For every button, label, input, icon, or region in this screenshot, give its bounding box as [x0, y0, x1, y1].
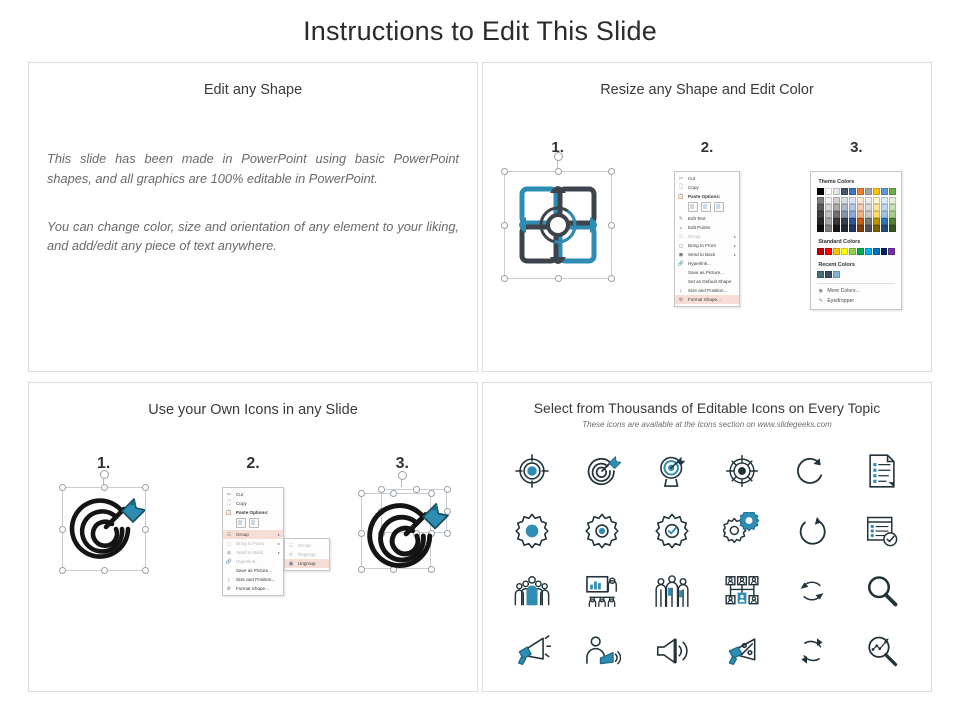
- standard-colors-row[interactable]: [817, 248, 895, 255]
- theme-shade-swatch[interactable]: [873, 211, 880, 218]
- panel-edit-shape-body: This slide has been made in PowerPoint u…: [47, 149, 459, 284]
- theme-shade-swatch[interactable]: [849, 225, 856, 232]
- theme-shade-swatch[interactable]: [889, 204, 896, 211]
- paste-picture-icon[interactable]: [249, 518, 259, 528]
- refresh-arrow-icon[interactable]: [795, 454, 829, 488]
- size-position-icon: ↨: [225, 576, 233, 583]
- document-check-icon[interactable]: [864, 513, 900, 549]
- menu-item-hyperlink[interactable]: 🔗Hyperlink...: [675, 259, 739, 268]
- handle-ne[interactable]: [608, 168, 615, 175]
- resize-figure-row: ✂Cut 🗋Copy 📋Paste Options: ✎Edit Text ▵E…: [483, 171, 931, 310]
- magnifier-icon[interactable]: [864, 573, 900, 609]
- theme-shade-swatch[interactable]: [881, 197, 888, 204]
- eyedropper-icon: ✎: [817, 297, 824, 304]
- theme-shade-swatch[interactable]: [889, 218, 896, 225]
- eyedropper-item[interactable]: ✎Eyedropper: [817, 297, 895, 304]
- target-icon-ungrouped[interactable]: [357, 487, 447, 577]
- rotate-handle[interactable]: [398, 471, 407, 480]
- handle-s[interactable]: [555, 275, 562, 282]
- resize-number-3: 3.: [782, 139, 931, 156]
- group-submenu[interactable]: ☷Group ☸Regroup ▣Ungroup: [284, 538, 330, 571]
- hyperlink-icon: 🔗: [225, 558, 233, 565]
- handle-se[interactable]: [142, 567, 149, 574]
- theme-shade-swatch[interactable]: [841, 204, 848, 211]
- standard-colors-heading: Standard Colors: [818, 239, 895, 245]
- menu-item-copy[interactable]: 🗋Copy: [223, 499, 283, 508]
- gear-outline-icon[interactable]: [583, 512, 621, 550]
- theme-shade-swatch[interactable]: [865, 204, 872, 211]
- theme-color-swatch[interactable]: [857, 188, 864, 195]
- standard-color-swatch[interactable]: [881, 248, 888, 255]
- handle-nw[interactable]: [501, 168, 508, 175]
- shape-context-menu[interactable]: ✂Cut 🗋Copy 📋Paste Options: ✎Edit Text ▵E…: [674, 171, 740, 307]
- resize-number-row: 1. 2. 3.: [483, 139, 931, 156]
- theme-shade-swatch[interactable]: [833, 211, 840, 218]
- theme-color-column[interactable]: [873, 188, 880, 232]
- theme-color-column[interactable]: [857, 188, 864, 232]
- hyperlink-icon: 🔗: [677, 260, 685, 267]
- standard-color-swatch[interactable]: [841, 248, 848, 255]
- handle-se[interactable]: [608, 275, 615, 282]
- panel-resize-shape-title: Resize any Shape and Edit Color: [483, 82, 931, 98]
- handle-w[interactable]: [501, 222, 508, 229]
- resize-figure-3: Theme Colors Standard Colors Recent Colo…: [782, 171, 931, 310]
- submenu-item-group[interactable]: ☷Group: [285, 541, 329, 550]
- theme-shade-swatch[interactable]: [825, 197, 832, 204]
- theme-color-swatch[interactable]: [833, 188, 840, 195]
- handle-s[interactable]: [101, 567, 108, 574]
- rotate-handle[interactable]: [554, 152, 563, 161]
- theme-shade-swatch[interactable]: [817, 225, 824, 232]
- paste-option-buttons[interactable]: [675, 201, 739, 214]
- format-shape-icon: ⚙: [677, 296, 685, 303]
- theme-shade-swatch[interactable]: [873, 204, 880, 211]
- chevron-right-icon: ▸: [278, 532, 280, 537]
- menu-item-save-as-picture[interactable]: Save as Picture...: [675, 268, 739, 277]
- theme-shade-swatch[interactable]: [817, 218, 824, 225]
- bring-front-icon: ◻: [225, 540, 233, 547]
- theme-colors-grid[interactable]: [817, 188, 895, 232]
- standard-color-swatch[interactable]: [825, 248, 832, 255]
- menu-item-format-shape[interactable]: ⚙Format Shape...: [675, 295, 739, 304]
- gear-check-icon[interactable]: [653, 512, 691, 550]
- regroup-icon: ☸: [287, 552, 295, 558]
- handle-w[interactable]: [59, 526, 66, 533]
- paste-option-buttons[interactable]: [223, 517, 283, 530]
- save-picture-icon: [677, 269, 685, 276]
- handle-n[interactable]: [101, 484, 108, 491]
- handle-e[interactable]: [142, 526, 149, 533]
- format-shape-icon: ⚙: [225, 585, 233, 592]
- theme-shade-swatch[interactable]: [841, 197, 848, 204]
- double-gear-icon[interactable]: [723, 512, 761, 550]
- handle-n[interactable]: [555, 168, 562, 175]
- paste-text-icon[interactable]: [714, 202, 724, 212]
- theme-color-picker[interactable]: Theme Colors Standard Colors Recent Colo…: [810, 171, 902, 310]
- menu-item-paste-options[interactable]: 📋Paste Options:: [223, 508, 283, 517]
- theme-color-column[interactable]: [833, 188, 840, 232]
- theme-shade-swatch[interactable]: [889, 225, 896, 232]
- handle-e[interactable]: [608, 222, 615, 229]
- theme-shade-swatch[interactable]: [841, 218, 848, 225]
- person-megaphone-icon[interactable]: [583, 632, 621, 670]
- resize-figure-2: ✂Cut 🗋Copy 📋Paste Options: ✎Edit Text ▵E…: [632, 171, 781, 307]
- recent-colors-row[interactable]: [817, 271, 895, 278]
- resize-figure-1: [483, 171, 632, 279]
- theme-shade-swatch[interactable]: [817, 197, 824, 204]
- chevron-right-icon: ▸: [734, 243, 736, 248]
- crosshair-dark-icon[interactable]: [723, 452, 761, 490]
- chevron-right-icon: ▸: [734, 234, 736, 239]
- theme-shade-swatch[interactable]: [865, 197, 872, 204]
- palette-icon: ◉: [817, 287, 824, 294]
- paste-picture-icon[interactable]: [701, 202, 711, 212]
- standard-color-swatch[interactable]: [857, 248, 864, 255]
- theme-shade-swatch[interactable]: [841, 225, 848, 232]
- panel-icon-library-title: Select from Thousands of Editable Icons …: [483, 400, 931, 416]
- send-back-icon: ◼: [677, 251, 685, 258]
- theme-color-swatch[interactable]: [865, 188, 872, 195]
- ungroup-icon: ▣: [287, 561, 295, 567]
- standard-color-swatch[interactable]: [849, 248, 856, 255]
- speaker-announce-icon[interactable]: [653, 632, 691, 670]
- theme-color-column[interactable]: [825, 188, 832, 232]
- theme-shade-swatch[interactable]: [889, 211, 896, 218]
- menu-item-set-default-shape[interactable]: Set as Default Shape: [675, 277, 739, 286]
- resize-number-2: 2.: [632, 139, 781, 156]
- own-icons-number-row: 1. 2. 3.: [29, 455, 477, 473]
- theme-color-swatch[interactable]: [817, 188, 824, 195]
- handle-sw[interactable]: [501, 275, 508, 282]
- theme-shade-swatch[interactable]: [857, 218, 864, 225]
- theme-color-column[interactable]: [865, 188, 872, 232]
- target-stand-icon[interactable]: [653, 452, 691, 490]
- submenu-item-regroup[interactable]: ☸Regroup: [285, 550, 329, 559]
- theme-shade-swatch[interactable]: [849, 211, 856, 218]
- presentation-training-icon[interactable]: [583, 572, 621, 610]
- bring-front-icon: ◻: [677, 242, 685, 249]
- theme-shade-swatch[interactable]: [857, 225, 864, 232]
- theme-shade-swatch[interactable]: [865, 225, 872, 232]
- copy-icon: 🗋: [225, 500, 233, 507]
- selection-frame: [62, 487, 146, 571]
- menu-item-bring-to-front[interactable]: ◻Bring to Front▸: [223, 539, 283, 548]
- team-leader-icon[interactable]: [513, 572, 551, 610]
- page-title: Instructions to Edit This Slide: [0, 16, 960, 47]
- menu-item-cut[interactable]: ✂Cut: [223, 490, 283, 499]
- rotate-handle[interactable]: [100, 470, 109, 479]
- theme-shade-swatch[interactable]: [857, 204, 864, 211]
- target-dart-graphic: [359, 491, 449, 581]
- theme-shade-swatch[interactable]: [857, 197, 864, 204]
- theme-shade-swatch[interactable]: [833, 218, 840, 225]
- recent-colors-heading: Recent Colors: [818, 262, 895, 268]
- theme-shade-swatch[interactable]: [865, 218, 872, 225]
- team-group-icon[interactable]: [653, 572, 691, 610]
- theme-color-column[interactable]: [817, 188, 824, 232]
- recent-color-swatch[interactable]: [825, 271, 832, 278]
- theme-shade-swatch[interactable]: [865, 211, 872, 218]
- theme-shade-swatch[interactable]: [881, 218, 888, 225]
- group-menu-wrapper: ✂Cut 🗋Copy 📋Paste Options: ☷Group▸ ◻Brin…: [222, 487, 284, 596]
- group-context-menu[interactable]: ✂Cut 🗋Copy 📋Paste Options: ☷Group▸ ◻Brin…: [222, 487, 284, 596]
- theme-shade-swatch[interactable]: [881, 225, 888, 232]
- clipboard-icon: 📋: [225, 509, 233, 516]
- theme-shade-swatch[interactable]: [825, 225, 832, 232]
- icon-library-grid: [497, 441, 917, 681]
- panel-grid: Edit any Shape This slide has been made …: [28, 62, 932, 692]
- menu-item-send-to-back[interactable]: ◼Send to Back▸: [223, 548, 283, 557]
- menu-item-bring-to-front[interactable]: ◻Bring to Front▸: [675, 241, 739, 250]
- panel-edit-shape-title: Edit any Shape: [29, 82, 477, 98]
- menu-item-group[interactable]: ☷Group▸: [223, 530, 283, 539]
- handle-nw[interactable]: [59, 484, 66, 491]
- own-icons-number-2: 2.: [178, 455, 327, 473]
- panel-icon-library: Select from Thousands of Editable Icons …: [482, 382, 932, 692]
- paste-keep-formatting-icon[interactable]: [688, 202, 698, 212]
- menu-item-hyperlink[interactable]: 🔗Hyperlink...: [223, 557, 283, 566]
- theme-shade-swatch[interactable]: [873, 225, 880, 232]
- submenu-item-ungroup[interactable]: ▣Ungroup: [285, 559, 329, 568]
- theme-shade-swatch[interactable]: [817, 211, 824, 218]
- theme-shade-swatch[interactable]: [817, 204, 824, 211]
- standard-color-swatch[interactable]: [888, 248, 895, 255]
- menu-item-paste-options[interactable]: 📋Paste Options:: [675, 192, 739, 201]
- panel-own-icons: Use your Own Icons in any Slide 1. 2. 3.: [28, 382, 478, 692]
- send-back-icon: ◼: [225, 549, 233, 556]
- standard-color-swatch[interactable]: [817, 248, 824, 255]
- scissors-icon: ✂: [677, 175, 685, 182]
- theme-shade-swatch[interactable]: [889, 197, 896, 204]
- edit-text-icon: ✎: [677, 215, 685, 222]
- megaphone-percent-icon[interactable]: [723, 632, 761, 670]
- target-icon-selected[interactable]: [62, 487, 146, 571]
- theme-shade-swatch[interactable]: [825, 211, 832, 218]
- panel-icon-library-subtitle: These icons are available at the Icons s…: [483, 420, 931, 429]
- theme-shade-swatch[interactable]: [873, 197, 880, 204]
- own-icons-figure-row: ✂Cut 🗋Copy 📋Paste Options: ☷Group▸ ◻Brin…: [29, 487, 477, 596]
- menu-item-edit-points[interactable]: ▵Edit Points: [675, 223, 739, 232]
- theme-shade-swatch[interactable]: [833, 225, 840, 232]
- theme-shade-swatch[interactable]: [881, 211, 888, 218]
- menu-item-send-to-back[interactable]: ◼Send to Back▸: [675, 250, 739, 259]
- theme-shade-swatch[interactable]: [881, 204, 888, 211]
- group-icon: ☷: [225, 531, 233, 538]
- chevron-right-icon: ▸: [278, 541, 280, 546]
- body-paragraph-2: You can change color, size and orientati…: [47, 217, 459, 257]
- clipboard-icon: 📋: [677, 193, 685, 200]
- target-arrow-icon[interactable]: [583, 452, 621, 490]
- theme-color-swatch[interactable]: [841, 188, 848, 195]
- panel-own-icons-title: Use your Own Icons in any Slide: [29, 402, 477, 418]
- menu-item-cut[interactable]: ✂Cut: [675, 174, 739, 183]
- paste-keep-formatting-icon[interactable]: [236, 518, 246, 528]
- panel-edit-shape: Edit any Shape This slide has been made …: [28, 62, 478, 372]
- own-icons-figure-3: [328, 487, 477, 577]
- org-chart-people-icon[interactable]: [723, 572, 761, 610]
- menu-item-edit-text[interactable]: ✎Edit Text: [675, 214, 739, 223]
- theme-color-swatch[interactable]: [825, 188, 832, 195]
- menu-item-group[interactable]: ☷Group▸: [675, 232, 739, 241]
- crosshair-target-icon[interactable]: [513, 452, 551, 490]
- theme-shade-swatch[interactable]: [849, 197, 856, 204]
- standard-color-swatch[interactable]: [865, 248, 872, 255]
- own-icons-figure-1: [29, 487, 178, 571]
- panel-resize-shape: Resize any Shape and Edit Color 1. 2. 3.: [482, 62, 932, 372]
- circular-arrow-icon[interactable]: [795, 514, 829, 548]
- save-picture-icon: [225, 567, 233, 574]
- standard-color-swatch[interactable]: [873, 248, 880, 255]
- theme-color-swatch[interactable]: [849, 188, 856, 195]
- theme-shade-swatch[interactable]: [841, 211, 848, 218]
- theme-shade-swatch[interactable]: [849, 218, 856, 225]
- theme-shade-swatch[interactable]: [825, 204, 832, 211]
- size-position-icon: ↨: [677, 287, 685, 294]
- checklist-document-icon[interactable]: [865, 452, 899, 490]
- divider: [817, 283, 895, 284]
- own-icons-figure-2: ✂Cut 🗋Copy 📋Paste Options: ☷Group▸ ◻Brin…: [178, 487, 327, 596]
- body-paragraph-1: This slide has been made in PowerPoint u…: [47, 149, 459, 189]
- menu-item-format-shape[interactable]: ⚙Format Shape...: [223, 584, 283, 593]
- default-shape-icon: [677, 278, 685, 285]
- theme-color-column[interactable]: [841, 188, 848, 232]
- chevron-right-icon: ▸: [278, 550, 280, 555]
- recent-color-swatch[interactable]: [833, 271, 840, 278]
- sync-arrows-icon[interactable]: [795, 574, 829, 608]
- theme-shade-swatch[interactable]: [833, 197, 840, 204]
- theme-shade-swatch[interactable]: [833, 204, 840, 211]
- theme-shade-swatch[interactable]: [873, 218, 880, 225]
- menu-item-save-as-picture[interactable]: Save as Picture...: [223, 566, 283, 575]
- theme-color-column[interactable]: [849, 188, 856, 232]
- edit-points-icon: ▵: [677, 224, 685, 231]
- theme-color-swatch[interactable]: [873, 188, 880, 195]
- theme-shade-swatch[interactable]: [825, 218, 832, 225]
- menu-item-size-and-position[interactable]: ↨Size and Position...: [223, 575, 283, 584]
- more-colors-item[interactable]: ◉More Colors...: [817, 287, 895, 294]
- theme-colors-heading: Theme Colors: [818, 179, 895, 185]
- handle-sw[interactable]: [59, 567, 66, 574]
- copy-icon: 🗋: [677, 184, 685, 191]
- magnifier-chart-icon[interactable]: [864, 633, 900, 669]
- menu-item-size-and-position[interactable]: ↨Size and Position...: [675, 286, 739, 295]
- theme-shade-swatch[interactable]: [849, 204, 856, 211]
- megaphone-icon[interactable]: [513, 632, 551, 670]
- standard-color-swatch[interactable]: [833, 248, 840, 255]
- theme-color-swatch[interactable]: [889, 188, 896, 195]
- recent-color-swatch[interactable]: [817, 271, 824, 278]
- theme-shade-swatch[interactable]: [857, 211, 864, 218]
- slide-canvas: Instructions to Edit This Slide Edit any…: [0, 0, 960, 720]
- theme-color-column[interactable]: [881, 188, 888, 232]
- scissors-icon: ✂: [225, 491, 233, 498]
- chevron-right-icon: ▸: [734, 252, 736, 257]
- theme-color-column[interactable]: [889, 188, 896, 232]
- gear-filled-icon[interactable]: [513, 512, 551, 550]
- circular-arrows-icon[interactable]: [795, 634, 829, 668]
- handle-ne[interactable]: [142, 484, 149, 491]
- editable-shape-graphic[interactable]: [504, 171, 612, 279]
- menu-item-copy[interactable]: 🗋Copy: [675, 183, 739, 192]
- group-icon: ☷: [677, 233, 685, 240]
- selection-frame: [504, 171, 612, 279]
- group-icon: ☷: [287, 543, 295, 549]
- theme-color-swatch[interactable]: [881, 188, 888, 195]
